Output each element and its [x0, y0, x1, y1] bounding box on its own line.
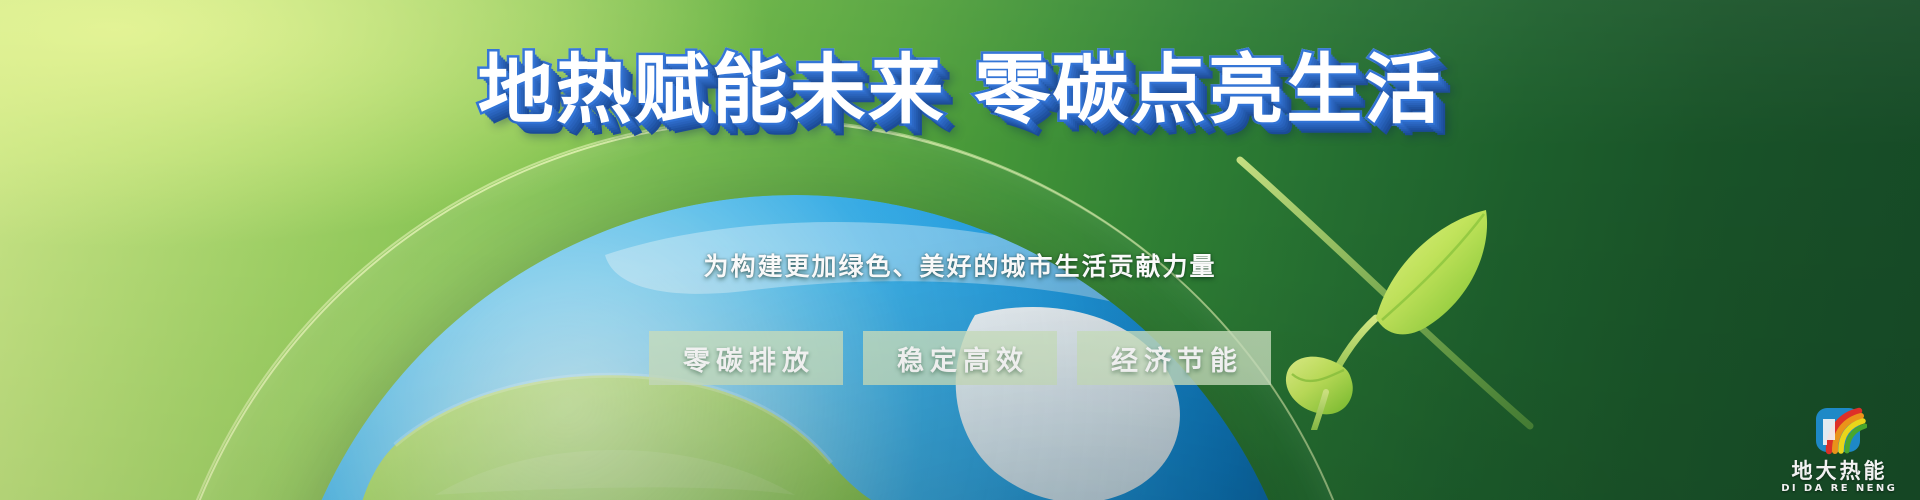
banner-vignette: [0, 0, 1920, 500]
hero-banner: 地热赋能未来 零碳点亮生活 为构建更加绿色、美好的城市生活贡献力量 零碳排放 稳…: [0, 0, 1920, 500]
